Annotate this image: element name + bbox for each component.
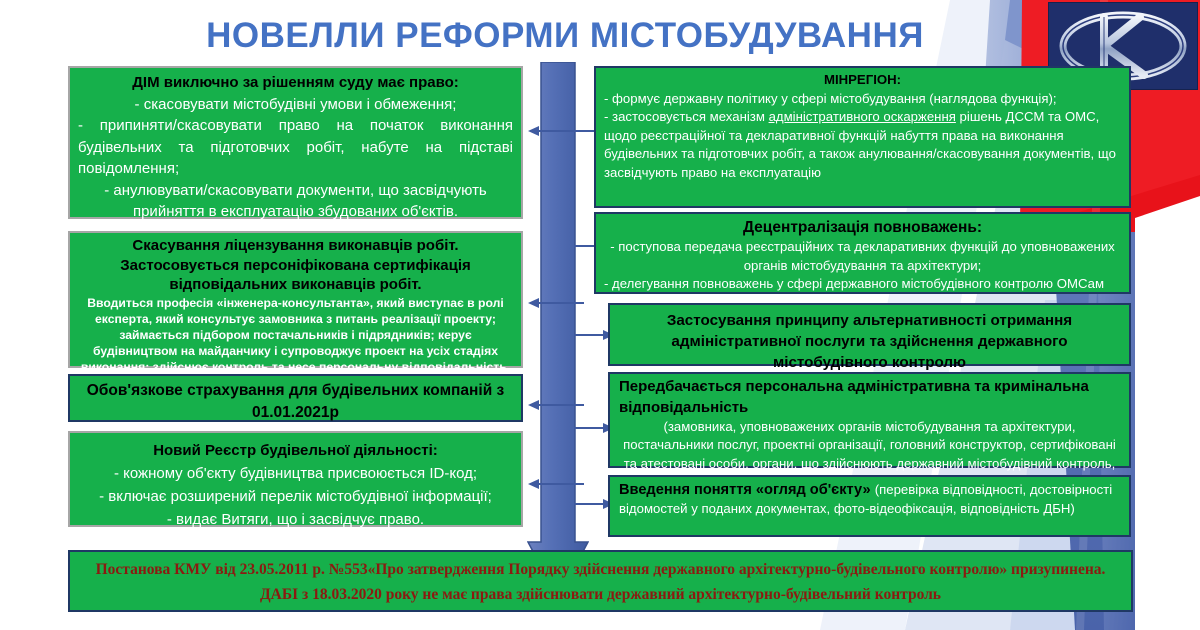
card-alternative-header: Застосування принципу альтернативності о… [620,310,1119,373]
card-dim-line-1: - скасовувати містобудівні умови і обмеж… [78,94,513,116]
card-responsibility-header-text: Передбачається персональна адміністратив… [619,378,1089,416]
card-licensing-header: Скасування ліцензування виконавців робіт… [77,236,514,295]
card-responsibility-header: Передбачається персональна адміністратив… [619,377,1120,418]
card-decentralization: Децентралізація повноважень: - поступова… [594,212,1131,294]
card-inspection: Введення поняття «огляд об'єкту» (переві… [608,475,1131,537]
underlined-phrase: адміністративного оскарження [769,109,956,124]
card-alternative: Застосування принципу альтернативності о… [608,303,1131,366]
card-dim-header: ДІМ виключно за рішенням суду має право: [78,72,513,94]
card-minregion-header-text: МІНРЕГІОН: [824,72,901,87]
card-dim-line-2: - припиняти/скасовувати право на початок… [78,115,513,180]
card-responsibility: Передбачається персональна адміністратив… [608,372,1131,468]
card-minregion: МІНРЕГІОН: - формує державну політику у … [594,66,1131,208]
card-registry: Новий Реєстр будівельної діяльності: - к… [68,431,523,527]
connector-arrow-left-1 [528,124,588,138]
card-minregion-line-2-text: - застосовується механізм адміністративн… [604,109,1116,180]
card-inspection-header: Введення поняття «огляд об'єкту» [619,482,875,498]
card-registry-line-2: - включає розширений перелік містобудівн… [78,485,513,508]
card-minregion-header: МІНРЕГІОН: [604,71,1121,90]
card-insurance: Обов'язкове страхування для будівельних … [68,374,523,422]
card-licensing: Скасування ліцензування виконавців робіт… [68,231,523,368]
card-licensing-line-1: Вводиться професія «інженера-консультант… [77,295,514,375]
page-title: НОВЕЛЛИ РЕФОРМИ МІСТОБУДУВАННЯ [0,16,1130,56]
connector-arrow-left-3 [528,398,586,412]
card-registry-line-3: - видає Витяги, що і засвідчує право. [78,508,513,531]
card-decentralization-line-2: - делегування повноважень у сфері держав… [604,275,1121,294]
connector-arrow-left-2 [528,296,586,310]
card-insurance-header: Обов'язкове страхування для будівельних … [78,380,513,424]
card-dim: ДІМ виключно за рішенням суду має право:… [68,66,523,219]
connector-arrow-left-4 [528,477,586,491]
card-minregion-line-1: - формує державну політику у сфері місто… [604,90,1121,109]
card-decentralization-header: Децентралізація повноважень: [604,217,1121,238]
card-minregion-line-2: - застосовується механізм адміністративн… [604,108,1121,182]
card-registry-header: Новий Реєстр будівельної діяльності: [78,439,513,462]
card-inspection-header-text: Введення поняття «огляд об'єкту» [619,482,871,498]
card-dim-line-3: - анулювувати/скасовувати документи, що … [78,180,513,223]
bottom-banner: Постанова КМУ від 23.05.2011 р. №553«Про… [68,550,1133,612]
card-decentralization-line-1: - поступова передача реєстраційних та де… [604,238,1121,275]
card-registry-line-1: - кожному об'єкту будівництва присвоюєть… [78,462,513,485]
